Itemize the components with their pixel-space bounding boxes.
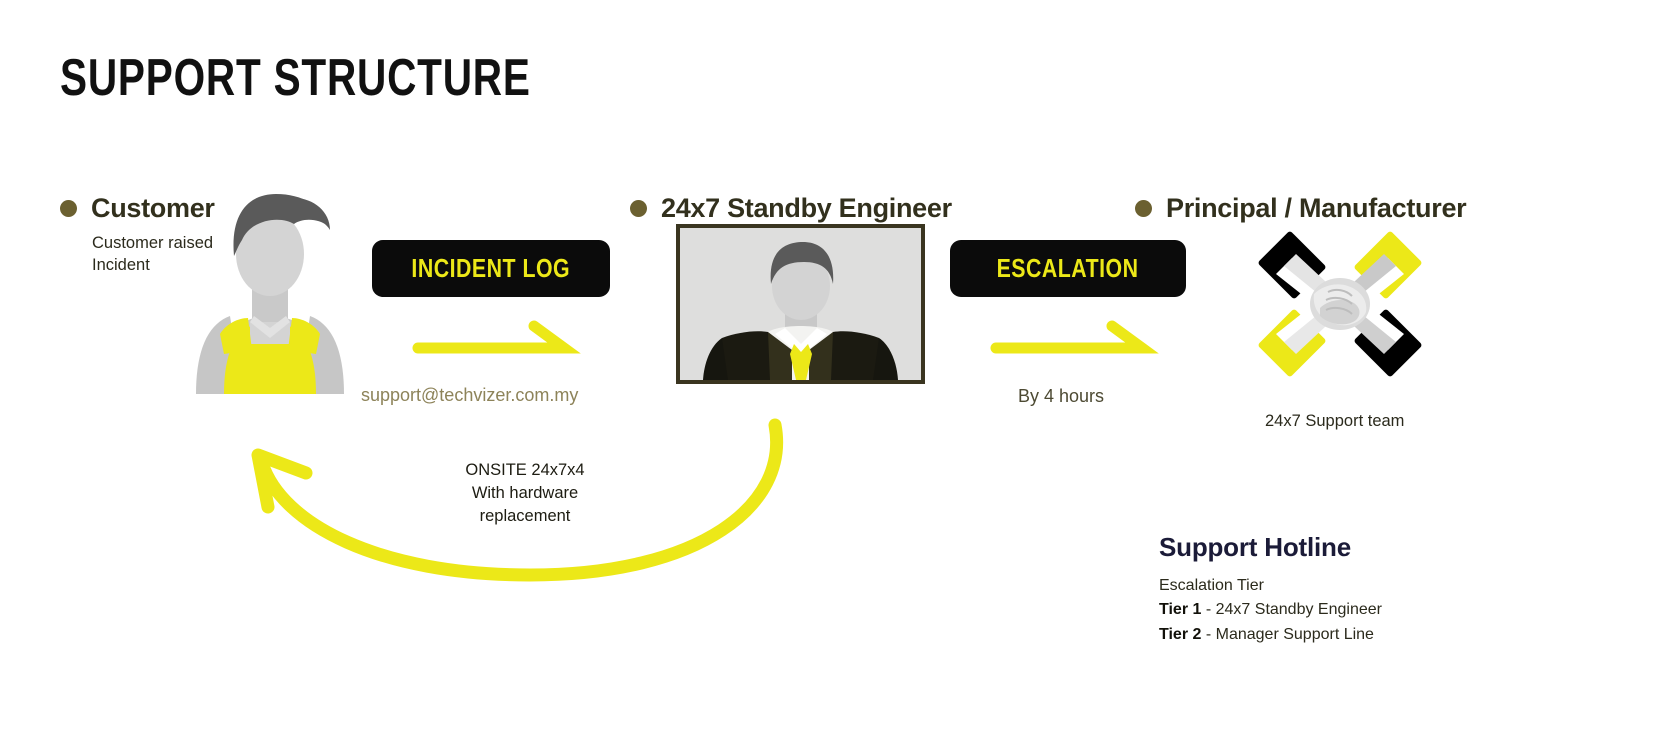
- hotline-tier-row: Tier 2 - Manager Support Line: [1159, 623, 1382, 647]
- slide-canvas: SUPPORT STRUCTURE Customer Customer rais…: [0, 0, 1654, 748]
- escalation-badge[interactable]: ESCALATION: [950, 240, 1186, 297]
- onsite-label: ONSITE 24x7x4 With hardware replacement: [430, 459, 620, 527]
- tier-dash: -: [1201, 626, 1215, 643]
- page-title: SUPPORT STRUCTURE: [60, 52, 531, 104]
- hotline-intro: Escalation Tier: [1159, 574, 1382, 598]
- column-heading-principal: Principal / Manufacturer: [1135, 193, 1466, 224]
- hotline-tier-row: Tier 1 - 24x7 Standby Engineer: [1159, 598, 1382, 622]
- principal-caption: 24x7 Support team: [1265, 412, 1404, 431]
- handshake-icon: [1250, 224, 1430, 384]
- tier-dash: -: [1201, 601, 1215, 618]
- incident-log-badge[interactable]: INCIDENT LOG: [372, 240, 610, 297]
- bullet-dot-icon: [60, 200, 77, 217]
- tier-name: Tier 1: [1159, 601, 1201, 618]
- column-heading-engineer: 24x7 Standby Engineer: [630, 193, 952, 224]
- escalation-badge-label: ESCALATION: [997, 253, 1139, 284]
- bullet-dot-icon: [1135, 200, 1152, 217]
- principal-label: Principal / Manufacturer: [1166, 193, 1466, 224]
- bullet-dot-icon: [630, 200, 647, 217]
- tier-desc: Manager Support Line: [1216, 626, 1374, 643]
- engineer-portrait-icon: [676, 224, 925, 384]
- incident-log-caption: support@techvizer.com.my: [361, 385, 578, 406]
- customer-avatar-icon: [190, 182, 350, 394]
- arrow-right-icon: [412, 320, 574, 364]
- tier-desc: 24x7 Standby Engineer: [1216, 601, 1382, 618]
- hotline-title: Support Hotline: [1159, 532, 1382, 563]
- tier-name: Tier 2: [1159, 626, 1201, 643]
- incident-log-badge-label: INCIDENT LOG: [412, 253, 571, 284]
- engineer-label: 24x7 Standby Engineer: [661, 193, 952, 224]
- escalation-caption: By 4 hours: [1018, 386, 1104, 407]
- support-hotline-block: Support Hotline Escalation Tier Tier 1 -…: [1159, 532, 1382, 647]
- arrow-right-icon: [990, 320, 1152, 364]
